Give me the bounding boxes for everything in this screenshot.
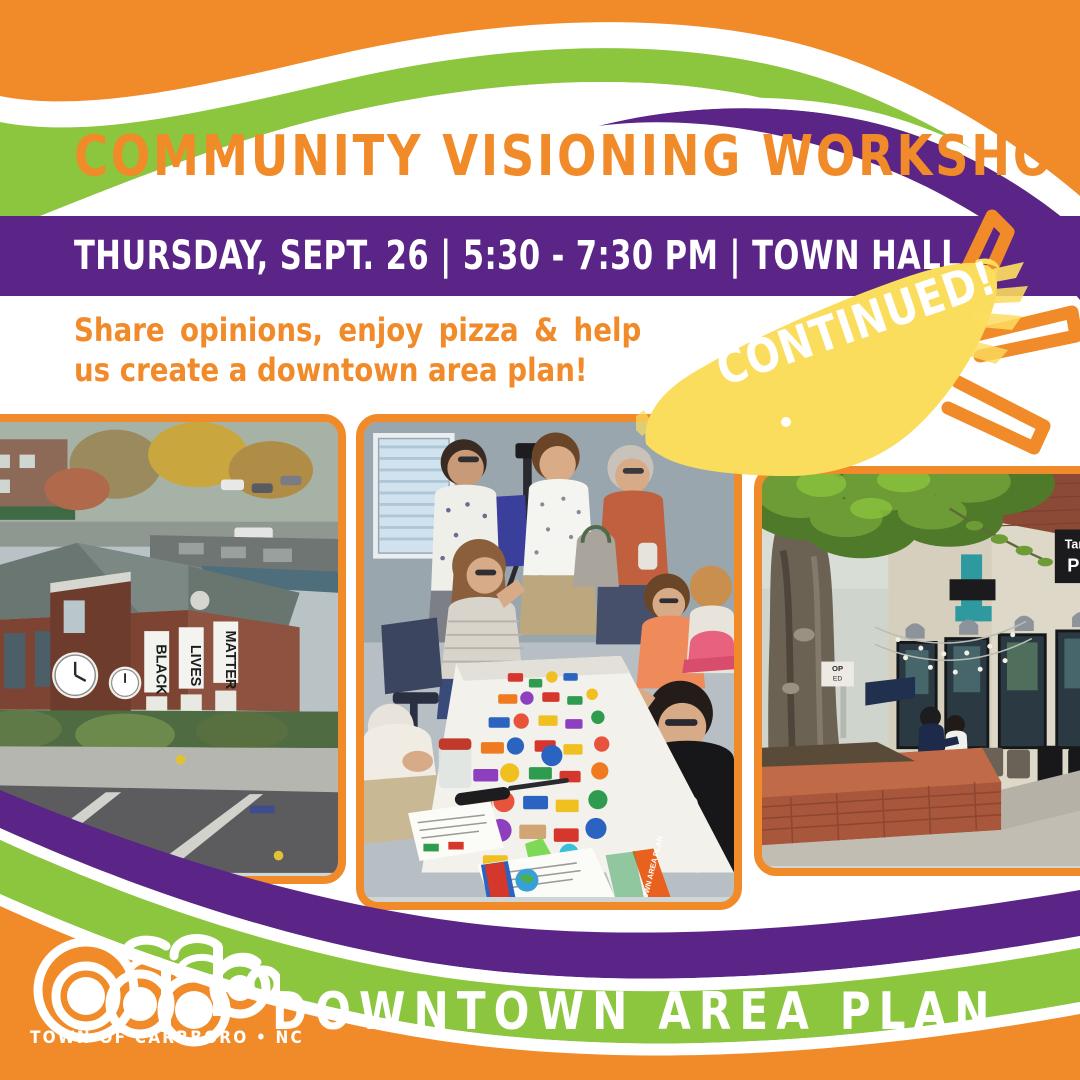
svg-text:PHA: PHA — [1067, 556, 1080, 576]
photo-workshop-participants: DOWNTOWN AREA PLAN — [356, 414, 742, 910]
svg-text:ED: ED — [833, 676, 842, 683]
event-description-line1: Share opinions, enjoy pizza & help — [74, 310, 688, 350]
photo-carrboro-town-hall-aerial: BLACK LIVES MATTER — [0, 414, 346, 884]
svg-text:Tarheel: Tarheel — [1065, 538, 1080, 552]
svg-text:LIVES: LIVES — [187, 645, 203, 687]
page-title: COMMUNITY VISIONING WORKSHOP — [74, 128, 828, 185]
svg-text:MATTER: MATTER — [222, 630, 238, 689]
svg-text:BLACK: BLACK — [153, 644, 169, 695]
continued-badge: CONTINUED! — [636, 186, 1080, 476]
footer-project-title: DOWNTOWN AREA PLAN — [272, 982, 998, 1042]
logo-caption: TOWN OF CARRBORO • NC — [30, 1028, 304, 1048]
event-description: Share opinions, enjoy pizza & help us cr… — [74, 310, 688, 390]
event-description-line2: us create a downtown area plan! — [74, 350, 688, 390]
svg-text:OP: OP — [832, 664, 843, 673]
workshop-table-illustration: DOWNTOWN AREA PLAN — [364, 422, 734, 897]
badge-exclamation-dot — [781, 417, 791, 427]
photo-downtown-streetscape: Tarheel PHA — [754, 466, 1080, 876]
poster-canvas: COMMUNITY VISIONING WORKSHOP THURSDAY, S… — [0, 0, 1080, 1080]
downtown-streetscape-illustration: Tarheel PHA — [762, 474, 1080, 866]
town-hall-aerial-illustration: BLACK LIVES MATTER — [0, 422, 338, 873]
